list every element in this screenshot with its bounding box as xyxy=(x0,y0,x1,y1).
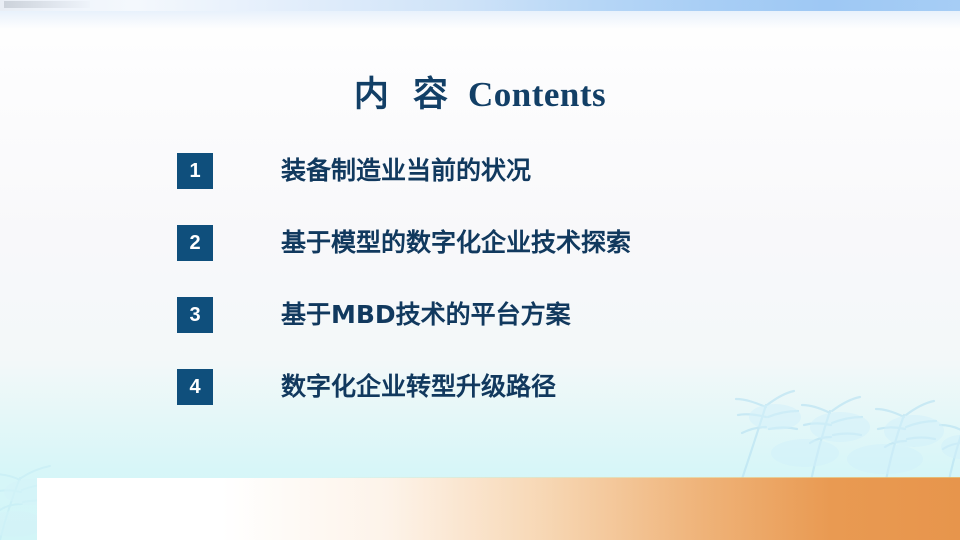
top-accent-strip xyxy=(0,0,960,11)
contents-item-label-1[interactable]: 装备制造业当前的状况 xyxy=(281,151,531,191)
contents-number-badge-3: 3 xyxy=(177,297,213,333)
contents-item-label-4[interactable]: 数字化企业转型升级路径 xyxy=(281,367,556,407)
list-item[interactable]: 1 装备制造业当前的状况 xyxy=(177,153,917,225)
list-item[interactable]: 3 基于MBD技术的平台方案 xyxy=(177,297,917,369)
contents-list: 1 装备制造业当前的状况 2 基于模型的数字化企业技术探索 3 基于MBD技术的… xyxy=(177,153,917,441)
contents-number-badge-1: 1 xyxy=(177,153,213,189)
page-title-en: Contents xyxy=(468,75,606,114)
top-strip-left-patch xyxy=(4,1,90,8)
bottom-accent-bar xyxy=(37,478,960,540)
top-accent-fade xyxy=(0,11,960,29)
slide-canvas: 内 容Contents 1 装备制造业当前的状况 2 基于模型的数字化企业技术探… xyxy=(0,0,960,540)
contents-number-badge-2: 2 xyxy=(177,225,213,261)
page-title: 内 容Contents xyxy=(0,66,960,117)
contents-item-label-2[interactable]: 基于模型的数字化企业技术探索 xyxy=(281,223,631,263)
contents-item-label-3[interactable]: 基于MBD技术的平台方案 xyxy=(281,295,571,335)
list-item[interactable]: 4 数字化企业转型升级路径 xyxy=(177,369,917,441)
contents-number-badge-4: 4 xyxy=(177,369,213,405)
list-item[interactable]: 2 基于模型的数字化企业技术探索 xyxy=(177,225,917,297)
page-title-cn: 内 容 xyxy=(354,75,454,115)
